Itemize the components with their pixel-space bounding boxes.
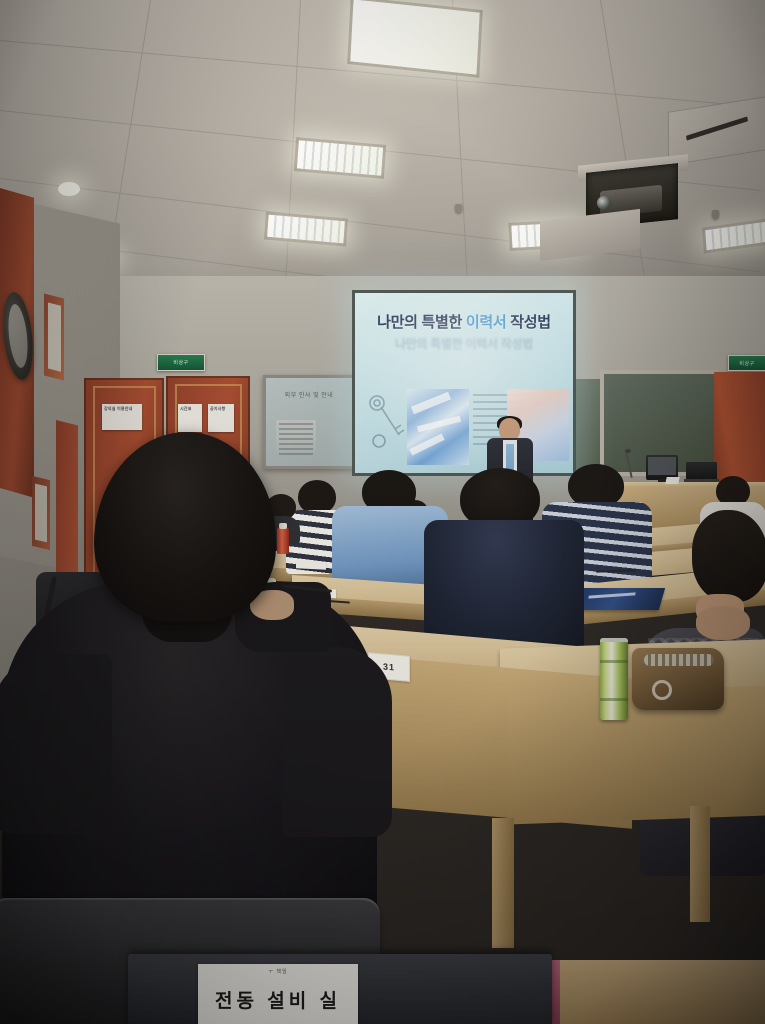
door-notice-text: 공지사항	[208, 404, 234, 414]
foreground-attendee-hair	[94, 432, 276, 622]
foreground-attendee	[0, 432, 392, 972]
foreground-attendee-shoulder-left	[0, 654, 112, 834]
attendee-head	[692, 510, 765, 602]
handbag-chain	[644, 654, 714, 666]
foreground-attendee-shoulder-right	[282, 647, 392, 837]
desk-leg	[492, 818, 514, 948]
attendee-hand	[696, 606, 750, 640]
ceiling-downlight	[58, 182, 80, 196]
bottom-desk-edge	[545, 960, 765, 1024]
podium-paper	[665, 477, 679, 484]
microphone-head-icon	[625, 449, 631, 453]
framed-notice	[44, 294, 64, 381]
can-top	[600, 638, 628, 642]
notice-board-title: 외부 인사 및 안내	[274, 390, 344, 399]
photo-scene: 강의실 이용안내 시간표 공지사항 비상구 비상구 외부 인사 및 안내 나만의…	[0, 0, 765, 1024]
desk-leg	[690, 806, 710, 922]
door-notice: 강의실 이용안내	[102, 404, 142, 430]
emergency-exit-sign-left: 비상구	[157, 354, 205, 371]
emergency-exit-sign-right: 비상구	[728, 355, 765, 371]
sprinkler-head	[455, 204, 462, 213]
projector-lens-icon	[597, 196, 611, 210]
equipment-sign-board: ㅜ 책임 전동 설비 실	[128, 954, 552, 1024]
sprinkler-head	[712, 210, 719, 219]
handbag	[632, 648, 724, 710]
door-notice-text: 시간표	[178, 404, 202, 414]
door-notice: 시간표	[178, 404, 202, 432]
attendee-torso	[424, 520, 584, 652]
door-notice: 공지사항	[208, 404, 234, 432]
beverage-can	[600, 638, 628, 720]
clock-face	[6, 303, 31, 369]
ceiling-light-panel	[350, 0, 479, 74]
equipment-sign-small-text: ㅜ 책임	[203, 968, 353, 975]
equipment-sign-main-text: 전동 설비 실	[200, 986, 356, 1013]
exit-sign-label: 비상구	[739, 360, 754, 367]
exit-sign-label: 비상구	[173, 359, 188, 366]
equipment-sign-paper: ㅜ 책임 전동 설비 실	[198, 964, 358, 1024]
door-notice-text: 강의실 이용안내	[102, 404, 142, 414]
handbag-buckle-icon	[652, 680, 672, 700]
attendee-navy-shirt	[424, 468, 584, 650]
